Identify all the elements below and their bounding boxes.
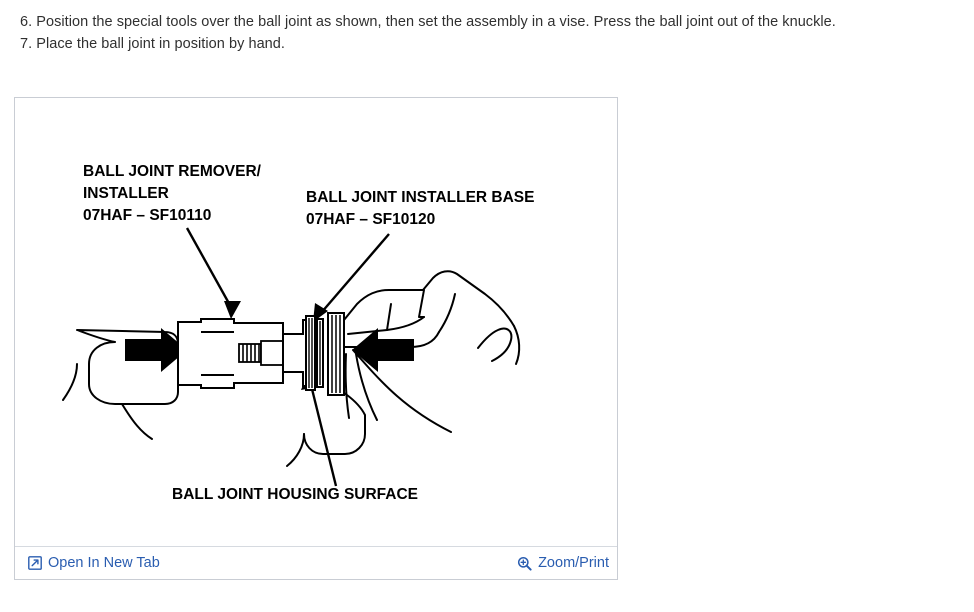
label-housing-surface: BALL JOINT HOUSING SURFACE	[172, 486, 418, 503]
open-in-new-window-icon	[27, 556, 42, 571]
leader-line-remover-installer	[187, 228, 241, 319]
instruction-step-6: 6. Position the special tools over the b…	[20, 11, 974, 33]
instruction-step-7: 7. Place the ball joint in position by h…	[20, 33, 974, 55]
image-viewer-panel: BALL JOINT REMOVER/ INSTALLER 07HAF – SF…	[14, 97, 618, 580]
zoom-print-button[interactable]: Zoom/Print	[517, 556, 609, 571]
magnifier-plus-icon	[517, 556, 532, 571]
open-in-new-tab-label: Open In New Tab	[48, 556, 160, 571]
viewer-toolbar: Open In New Tab Zoom/Print	[15, 546, 617, 579]
label-remover-installer-line1: BALL JOINT REMOVER/	[83, 163, 262, 180]
label-installer-base-partno: 07HAF – SF10120	[306, 211, 435, 228]
label-installer-base-line1: BALL JOINT INSTALLER BASE	[306, 189, 535, 206]
label-remover-installer-line2: INSTALLER	[83, 185, 169, 202]
leader-line-installer-base	[313, 234, 389, 322]
ball-joint-diagram-svg: BALL JOINT REMOVER/ INSTALLER 07HAF – SF…	[15, 98, 617, 547]
label-remover-installer-partno: 07HAF – SF10110	[83, 207, 211, 224]
zoom-print-label: Zoom/Print	[538, 556, 609, 571]
instruction-list: 6. Position the special tools over the b…	[0, 0, 974, 55]
press-arrow-right	[352, 328, 414, 372]
press-shaft-assembly	[239, 341, 285, 365]
open-in-new-tab-button[interactable]: Open In New Tab	[27, 556, 160, 571]
technical-diagram[interactable]: BALL JOINT REMOVER/ INSTALLER 07HAF – SF…	[15, 98, 617, 547]
